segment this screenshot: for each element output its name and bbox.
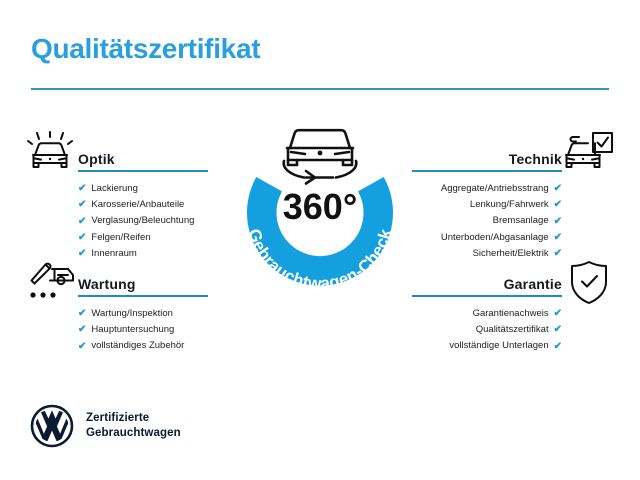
footer-line-2: Gebrauchtwagen bbox=[86, 426, 181, 441]
list-item: ✔Wartung/Inspektion bbox=[78, 306, 184, 322]
list-item: ✔Karosserie/Anbauteile bbox=[78, 197, 194, 213]
check-icon: ✔ bbox=[78, 200, 86, 210]
footer-text: Zertifizierte Gebrauchtwagen bbox=[86, 411, 181, 441]
list-item-label: Innenraum bbox=[91, 246, 136, 262]
list-item: ✔Hauptuntersuchung bbox=[78, 322, 184, 338]
check-icon: ✔ bbox=[78, 309, 86, 319]
list-item: Lenkung/Fahrwerk✔ bbox=[412, 197, 562, 213]
list-item-label: Lackierung bbox=[91, 181, 137, 197]
check-icon: ✔ bbox=[554, 233, 562, 243]
check-icon: ✔ bbox=[554, 217, 562, 227]
section-technik-list: Aggregate/Antriebsstrang✔ Lenkung/Fahrwe… bbox=[412, 181, 562, 262]
wrench-car-icon bbox=[24, 256, 76, 306]
list-item: Aggregate/Antriebsstrang✔ bbox=[412, 181, 562, 197]
list-item-label: Qualitätszertifikat bbox=[476, 322, 549, 338]
section-wartung-underline bbox=[78, 295, 208, 297]
section-optik-list: ✔Lackierung ✔Karosserie/Anbauteile ✔Verg… bbox=[78, 181, 194, 262]
section-garantie-header: Garantie bbox=[412, 271, 562, 297]
list-item-label: Aggregate/Antriebsstrang bbox=[441, 181, 549, 197]
list-item-label: Felgen/Reifen bbox=[91, 230, 150, 246]
list-item-label: vollständige Unterlagen bbox=[449, 338, 548, 354]
section-wartung: Wartung ✔Wartung/Inspektion ✔Hauptunters… bbox=[78, 271, 184, 355]
check-icon: ✔ bbox=[78, 184, 86, 194]
section-garantie-list: Garantienachweis✔ Qualitätszertifikat✔ v… bbox=[412, 306, 562, 355]
list-item: Unterboden/Abgasanlage✔ bbox=[412, 230, 562, 246]
badge-center-label: 360° bbox=[283, 186, 357, 227]
list-item: ✔vollständiges Zubehör bbox=[78, 338, 184, 354]
footer-brand: Zertifizierte Gebrauchtwagen bbox=[30, 404, 181, 448]
list-item-label: Bremsanlage bbox=[493, 213, 549, 229]
list-item: vollständige Unterlagen✔ bbox=[412, 338, 562, 354]
check-icon: ✔ bbox=[554, 200, 562, 210]
footer-line-1: Zertifizierte bbox=[86, 411, 181, 426]
section-optik-header: Optik bbox=[78, 146, 194, 172]
check-icon: ✔ bbox=[554, 184, 562, 194]
list-item: Garantienachweis✔ bbox=[412, 306, 562, 322]
check-icon: ✔ bbox=[554, 249, 562, 259]
car-shine-icon bbox=[24, 131, 76, 177]
check-icon: ✔ bbox=[78, 325, 86, 335]
section-optik-underline bbox=[78, 170, 208, 172]
list-item: Bremsanlage✔ bbox=[412, 213, 562, 229]
section-garantie-underline bbox=[412, 295, 562, 297]
check-icon: ✔ bbox=[78, 233, 86, 243]
list-item-label: Wartung/Inspektion bbox=[91, 306, 173, 322]
list-item-label: Hauptuntersuchung bbox=[91, 322, 174, 338]
title-divider bbox=[31, 88, 609, 90]
list-item-label: vollständiges Zubehör bbox=[91, 338, 184, 354]
check-icon: ✔ bbox=[554, 325, 562, 335]
list-item: ✔Innenraum bbox=[78, 246, 194, 262]
page-title: Qualitätszertifikat bbox=[31, 33, 260, 65]
check-icon: ✔ bbox=[78, 249, 86, 259]
section-wartung-heading: Wartung bbox=[78, 276, 136, 292]
section-garantie: Garantie Garantienachweis✔ Qualitätszert… bbox=[412, 271, 562, 355]
list-item-label: Sicherheit/Elektrik bbox=[473, 246, 549, 262]
check-icon: ✔ bbox=[78, 342, 86, 352]
certificate-page: Qualitätszertifikat Optik ✔Lackierung ✔K… bbox=[0, 0, 640, 480]
list-item-label: Verglasung/Beleuchtung bbox=[91, 213, 194, 229]
section-wartung-header: Wartung bbox=[78, 271, 184, 297]
list-item-label: Karosserie/Anbauteile bbox=[91, 197, 184, 213]
section-technik-heading: Technik bbox=[509, 151, 562, 167]
section-optik-heading: Optik bbox=[78, 151, 115, 167]
section-wartung-list: ✔Wartung/Inspektion ✔Hauptuntersuchung ✔… bbox=[78, 306, 184, 355]
list-item-label: Lenkung/Fahrwerk bbox=[470, 197, 549, 213]
list-item: ✔Verglasung/Beleuchtung bbox=[78, 213, 194, 229]
check-icon: ✔ bbox=[554, 342, 562, 352]
badge-360-gebrauchtwagen-check: Gebrauchtwagen-Check 360° bbox=[228, 115, 412, 315]
shield-check-icon bbox=[565, 258, 613, 306]
list-item: Qualitätszertifikat✔ bbox=[412, 322, 562, 338]
list-item-label: Garantienachweis bbox=[473, 306, 549, 322]
list-item: ✔Lackierung bbox=[78, 181, 194, 197]
section-optik: Optik ✔Lackierung ✔Karosserie/Anbauteile… bbox=[78, 146, 194, 262]
list-item: Sicherheit/Elektrik✔ bbox=[412, 246, 562, 262]
section-technik: Technik Aggregate/Antriebsstrang✔ Lenkun… bbox=[412, 146, 562, 262]
section-garantie-heading: Garantie bbox=[504, 276, 562, 292]
section-technik-header: Technik bbox=[412, 146, 562, 172]
check-icon: ✔ bbox=[554, 309, 562, 319]
car-checkbox-icon bbox=[562, 131, 614, 177]
list-item: ✔Felgen/Reifen bbox=[78, 230, 194, 246]
section-technik-underline bbox=[412, 170, 562, 172]
list-item-label: Unterboden/Abgasanlage bbox=[441, 230, 549, 246]
check-icon: ✔ bbox=[78, 217, 86, 227]
volkswagen-logo bbox=[30, 404, 74, 448]
car-front-rotate-icon bbox=[284, 130, 357, 183]
